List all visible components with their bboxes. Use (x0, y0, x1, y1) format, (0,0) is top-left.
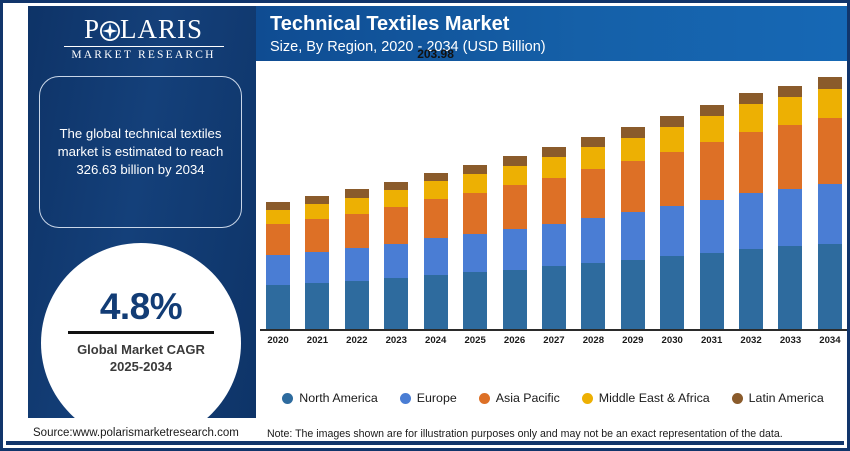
x-axis-tick-label: 2030 (660, 335, 684, 353)
bar-segment (345, 281, 369, 331)
left-info-panel: PLARIS MARKET RESEARCH The global techni… (6, 6, 256, 418)
bar-column (503, 67, 527, 331)
source-text: Source:www.polarismarketresearch.com (33, 427, 239, 439)
bar-segment (581, 137, 605, 147)
bar-segment (424, 173, 448, 182)
bar-segment (778, 97, 802, 125)
bar-segment (266, 285, 290, 331)
bar-segment (581, 263, 605, 331)
bar-segment (700, 200, 724, 253)
bar-segment (424, 199, 448, 238)
bar-segment (345, 189, 369, 197)
legend-color-dot (400, 393, 411, 404)
bar-segment (503, 156, 527, 165)
bar-segment (503, 166, 527, 186)
bar-segment (621, 260, 645, 331)
bar-segment (700, 116, 724, 142)
logo-wordmark-rest: LARIS (120, 14, 203, 44)
infographic-root: PLARIS MARKET RESEARCH The global techni… (0, 0, 850, 451)
bar-segment (818, 89, 842, 118)
page-title: Technical Textiles Market (270, 12, 850, 37)
bar-column (621, 67, 645, 331)
bar-segment (621, 212, 645, 260)
bar-segment (581, 169, 605, 218)
logo-divider (64, 46, 224, 47)
bar-column (542, 67, 566, 331)
cagr-value: 4.8% (100, 287, 182, 327)
compass-star-icon (99, 18, 121, 40)
legend-label: Middle East & Africa (599, 391, 710, 405)
bar-segment (384, 278, 408, 331)
chart-plot-area (266, 67, 842, 331)
bar-segment (305, 252, 329, 283)
bar-column (463, 67, 487, 331)
bar-segment (660, 127, 684, 152)
bar-segment (345, 198, 369, 214)
bar-segment (818, 77, 842, 88)
bar-segment (778, 125, 802, 189)
cagr-divider (68, 331, 214, 334)
bar-segment (700, 142, 724, 200)
logo-letter-p: P (84, 14, 100, 44)
legend-label: Latin America (749, 391, 824, 405)
x-axis-tick-label: 2034 (818, 335, 842, 353)
chart-legend: North AmericaEuropeAsia PacificMiddle Ea… (256, 386, 850, 410)
x-axis-tick-label: 2033 (778, 335, 802, 353)
cagr-label: Global Market CAGR (77, 341, 205, 358)
bar-segment (778, 246, 802, 331)
polaris-logo: PLARIS MARKET RESEARCH (36, 14, 251, 62)
bar-segment (305, 204, 329, 219)
legend-item[interactable]: Latin America (732, 391, 824, 405)
bar-segment (778, 86, 802, 97)
bar-column (818, 67, 842, 331)
bar-column (305, 67, 329, 331)
bar-column (778, 67, 802, 331)
bar-segment (463, 174, 487, 193)
bar-segment (503, 270, 527, 331)
bar-segment (660, 256, 684, 331)
bar-segment (266, 210, 290, 224)
bar-segment (424, 275, 448, 331)
x-axis-tick-label: 2023 (384, 335, 408, 353)
bar-column (581, 67, 605, 331)
bar-segment (739, 193, 763, 249)
bar-segment (305, 283, 329, 331)
bar-segment (424, 181, 448, 199)
bar-segment (503, 229, 527, 270)
bar-segment (660, 116, 684, 127)
bar-segment (542, 178, 566, 224)
legend-item[interactable]: Europe (400, 391, 457, 405)
bar-segment (778, 189, 802, 247)
bar-segment (818, 118, 842, 184)
stacked-bar-chart: 2020202120222023202420252026202720282029… (256, 61, 850, 361)
bar-segment (266, 224, 290, 255)
x-axis-tick-label: 2021 (305, 335, 329, 353)
x-axis-tick-label: 2025 (463, 335, 487, 353)
bar-segment (739, 93, 763, 104)
bar-segment (700, 105, 724, 116)
bottom-border-rule (6, 441, 844, 445)
x-axis-tick-label: 2029 (621, 335, 645, 353)
legend-item[interactable]: Middle East & Africa (582, 391, 710, 405)
x-axis-tick-label: 2031 (700, 335, 724, 353)
bar-segment (621, 127, 645, 137)
bar-segment (463, 193, 487, 234)
bar-column (660, 67, 684, 331)
x-axis-tick-label: 2027 (542, 335, 566, 353)
legend-color-dot (479, 393, 490, 404)
cagr-circle: 4.8% Global Market CAGR 2025-2034 (41, 243, 241, 418)
bar-column (266, 67, 290, 331)
legend-color-dot (582, 393, 593, 404)
bar-segment (581, 218, 605, 263)
bar-segment (305, 196, 329, 204)
bar-segment (345, 214, 369, 249)
highlight-callout-text: The global technical textiles market is … (40, 125, 241, 179)
bar-segment (818, 244, 842, 331)
legend-label: North America (299, 391, 378, 405)
x-axis-tick-label: 2026 (503, 335, 527, 353)
x-axis-tick-label: 2032 (739, 335, 763, 353)
legend-color-dot (282, 393, 293, 404)
bar-segment (621, 161, 645, 213)
page-subtitle: Size, By Region, 2020 - 2034 (USD Billio… (270, 37, 850, 57)
legend-item[interactable]: Asia Pacific (479, 391, 560, 405)
x-axis-tick-label: 2020 (266, 335, 290, 353)
bar-segment (542, 157, 566, 178)
bar-segment (345, 248, 369, 281)
x-axis-labels: 2020202120222023202420252026202720282029… (266, 335, 842, 353)
bar-column (345, 67, 369, 331)
bar-segment (266, 255, 290, 285)
bar-segment (739, 132, 763, 193)
bar-segment (384, 190, 408, 207)
x-axis-tick-label: 2022 (345, 335, 369, 353)
x-axis-tick-label: 2028 (581, 335, 605, 353)
panel-left-notch (6, 6, 28, 418)
bar-segment (739, 104, 763, 131)
legend-item[interactable]: North America (282, 391, 378, 405)
logo-wordmark: PLARIS (36, 14, 251, 44)
bar-segment (424, 238, 448, 275)
bar-segment (542, 224, 566, 267)
bar-segment (739, 249, 763, 331)
legend-color-dot (732, 393, 743, 404)
bar-segment (660, 206, 684, 256)
bar-segment (621, 138, 645, 161)
legend-label: Asia Pacific (496, 391, 560, 405)
bar-segment (305, 219, 329, 252)
bar-segment (463, 272, 487, 331)
bar-segment (542, 147, 566, 157)
bar-segment (384, 182, 408, 191)
highlight-callout-box: The global technical textiles market is … (39, 76, 242, 228)
bar-column (739, 67, 763, 331)
x-axis-tick-label: 2024 (424, 335, 448, 353)
bar-column (384, 67, 408, 331)
bar-segment (700, 253, 724, 331)
cagr-years: 2025-2034 (110, 358, 172, 375)
chart-bars (266, 67, 842, 331)
bar-segment (542, 266, 566, 331)
bar-column (700, 67, 724, 331)
bar-segment (384, 207, 408, 244)
footer-note: Note: The images shown are for illustrat… (267, 428, 783, 440)
logo-subtitle: MARKET RESEARCH (36, 49, 251, 62)
bar-segment (266, 202, 290, 210)
bar-column (424, 67, 448, 331)
bar-segment (463, 165, 487, 174)
bar-segment (503, 185, 527, 229)
bar-segment (463, 234, 487, 273)
bar-segment (384, 244, 408, 279)
legend-label: Europe (417, 391, 457, 405)
x-axis-line (260, 329, 848, 331)
bar-segment (818, 184, 842, 244)
bar-segment (660, 152, 684, 207)
data-value-label: 203.98 (417, 47, 454, 61)
chart-header: Technical Textiles Market Size, By Regio… (256, 6, 850, 61)
bar-segment (581, 147, 605, 169)
